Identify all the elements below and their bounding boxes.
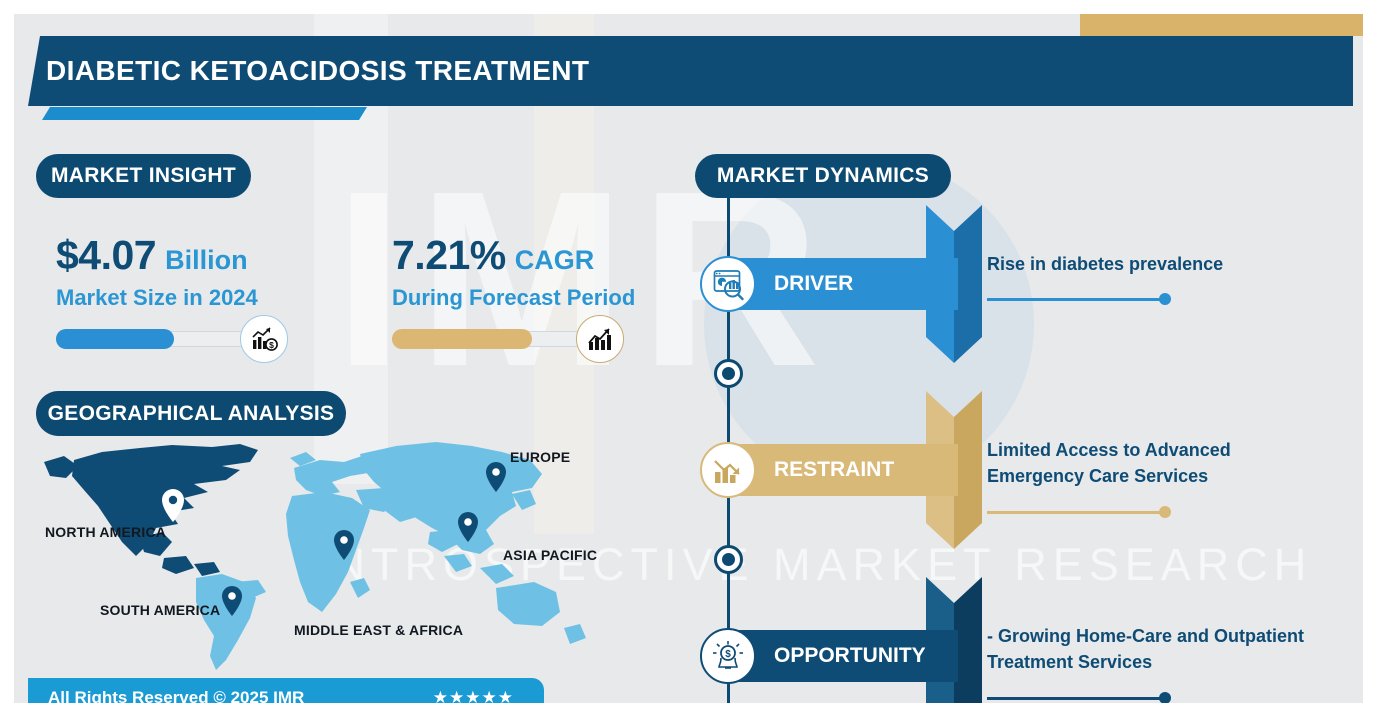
declining-bar-chart-icon [700,442,756,498]
connector-dot-restraint [1159,506,1171,518]
header-blue-accent [42,107,367,120]
timeline-node [714,359,743,388]
footer-bar: All Rights Reserved © 2025 IMR ★★★★★ [28,678,544,717]
connector-dot-opportunity [1159,692,1171,704]
growth-arrow-icon [576,315,624,363]
stat-cagr-value: 7.21% [392,232,506,279]
map-region-north-america [44,444,258,576]
region-label-middle-east-africa: MIDDLE EAST & AFRICA [294,622,463,638]
dynamics-text-opportunity: - Growing Home-Care and Outpatient Treat… [987,623,1317,675]
lightbulb-dollar-icon: $ [700,628,756,684]
dashboard-magnifier-icon [700,256,756,312]
stat-market-size-caption: Market Size in 2024 [56,285,271,311]
connector-line-restraint [987,511,1162,514]
stat-market-size: $4.07 Billion Market Size in 2024 $ [56,232,271,349]
header-gold-strip [1080,14,1367,36]
stat-market-size-progress: $ [56,329,271,349]
infographic-canvas: IMR INTROSPECTIVE MARKET RESEARCH DIABET… [0,0,1377,717]
connector-line-driver [987,298,1162,301]
svg-text:$: $ [269,340,274,350]
map-region-africa [286,492,370,612]
stat-cagr-unit: CAGR [515,245,595,276]
dynamics-label-driver: DRIVER [774,258,853,310]
copyright-text: All Rights Reserved © 2025 IMR [48,688,304,708]
market-dynamics-pill: MARKET DYNAMICS [695,154,951,198]
progress-fill [392,329,532,349]
dynamics-label-restraint: RESTRAINT [774,444,894,496]
stat-cagr-progress [392,329,607,349]
dynamics-text-restraint: Limited Access to Advanced Emergency Car… [987,437,1317,489]
region-label-asia-pacific: ASIA PACIFIC [503,547,597,563]
dynamics-label-opportunity: OPPORTUNITY [774,630,926,682]
geographical-analysis-pill: GEOGRAPHICAL ANALYSIS [36,391,346,436]
region-label-north-america: NORTH AMERICA [45,524,166,540]
page-title: DIABETIC KETOACIDOSIS TREATMENT [46,36,589,106]
timeline-node [714,545,743,574]
connector-line-opportunity [987,697,1162,700]
connector-dot-driver [1159,293,1171,305]
market-insight-pill: MARKET INSIGHT [36,154,251,198]
stat-market-size-value: $4.07 [56,232,156,279]
rating-stars: ★★★★★ [433,688,514,708]
svg-text:$: $ [725,649,731,660]
stat-market-size-unit: Billion [165,245,248,276]
dynamics-text-driver: Rise in diabetes prevalence [987,251,1317,277]
region-label-europe: EUROPE [510,449,570,465]
region-label-south-america: SOUTH AMERICA [100,602,220,618]
bar-chart-dollar-icon: $ [240,315,288,363]
map-region-oceania [496,582,586,644]
stat-cagr: 7.21% CAGR During Forecast Period [392,232,635,349]
stat-cagr-caption: During Forecast Period [392,285,635,311]
progress-fill [56,329,174,349]
